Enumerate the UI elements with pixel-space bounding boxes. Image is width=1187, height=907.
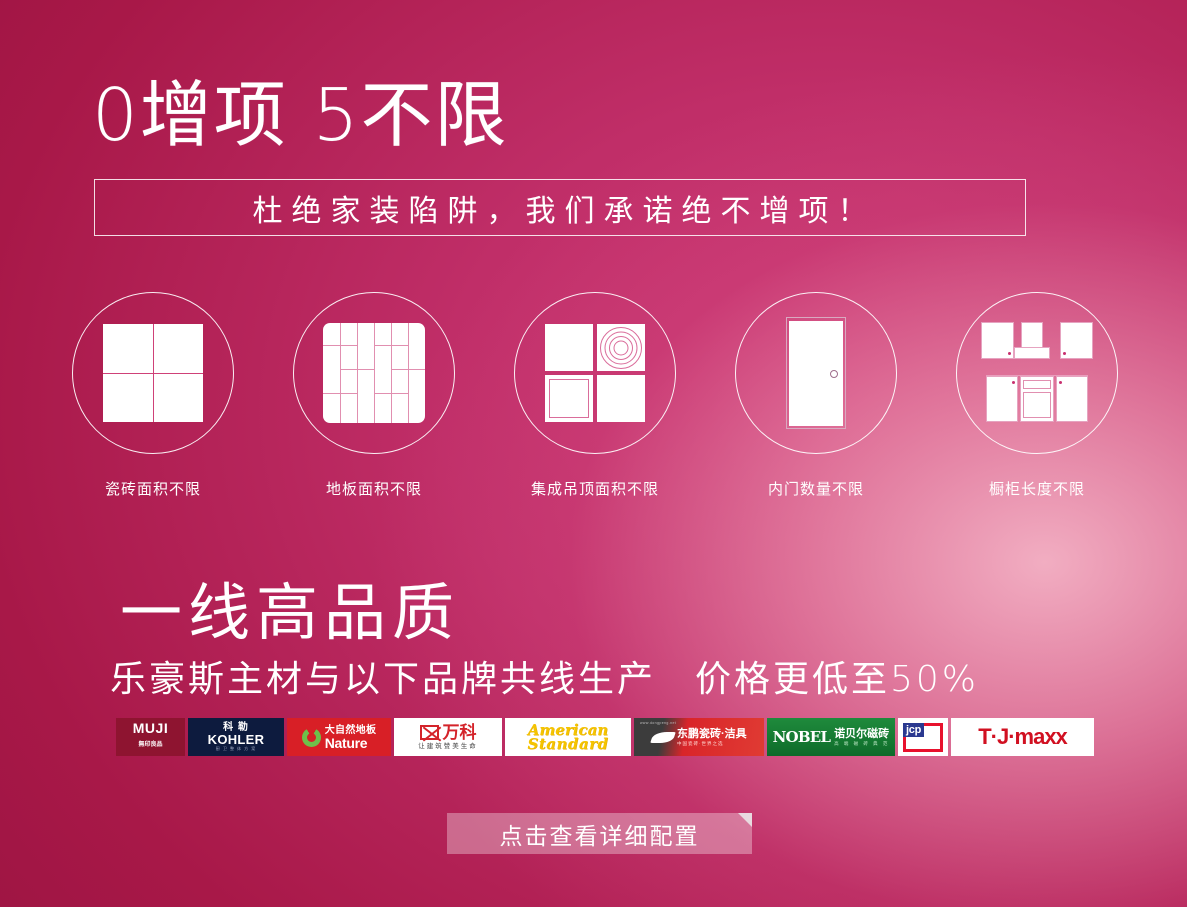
view-details-label: 点击查看详细配置 bbox=[500, 817, 700, 851]
jcp-frame-icon: jcp bbox=[903, 723, 943, 752]
brand-logo-tjmaxx: T·J·maxx bbox=[951, 718, 1094, 756]
brand-dongpeng-cn: 东鹏瓷砖·洁具 bbox=[677, 728, 747, 740]
door-icon-circle bbox=[735, 292, 897, 454]
brand-jcp-tag: jcp bbox=[903, 723, 924, 737]
brand-vanke-slogan: 让建筑赞美生命 bbox=[418, 743, 478, 751]
quality-subheading: 乐豪斯主材与以下品牌共线生产 价格更低至50% bbox=[110, 650, 979, 702]
promise-box: 杜绝家装陷阱，我们承诺绝不增项！ bbox=[94, 179, 1026, 236]
feature-item-tile: 瓷砖面积不限 bbox=[60, 292, 246, 499]
cabinet-icon-circle bbox=[956, 292, 1118, 454]
brand-logo-vanke: 万科 让建筑赞美生命 bbox=[394, 718, 502, 756]
floor-icon bbox=[323, 323, 425, 423]
brand-kohler-tagline: 厨 卫 整 体 方 案 bbox=[216, 746, 257, 752]
brand-nature-cn: 大自然地板 bbox=[325, 725, 377, 736]
nature-leaf-icon bbox=[302, 728, 321, 747]
brand-logo-dongpeng: www.dongpeng.net 东鹏瓷砖·洁具 中国瓷砖·世界之选 bbox=[634, 718, 764, 756]
brand-dongpeng-url: www.dongpeng.net bbox=[640, 721, 676, 725]
feature-label: 内门数量不限 bbox=[768, 478, 864, 499]
brand-nobel-cn: 诺贝尔磁砖 bbox=[834, 728, 889, 740]
feature-label: 地板面积不限 bbox=[326, 478, 422, 499]
brand-kohler-en: KOHLER bbox=[208, 733, 265, 746]
ceiling-icon bbox=[545, 324, 645, 422]
brand-logo-nobel: NOBEL 诺贝尔磁砖 高 端 磁 砖 典 范 bbox=[767, 718, 895, 756]
brand-logo-kohler: 科 勒 KOHLER 厨 卫 整 体 方 案 bbox=[188, 718, 284, 756]
brand-nobel-tagline: 高 端 磁 砖 典 范 bbox=[834, 740, 889, 747]
brand-logo-american-standard: American Standard bbox=[505, 718, 631, 756]
corner-fold-icon bbox=[738, 813, 752, 827]
feature-item-ceiling: 集成吊顶面积不限 bbox=[502, 292, 688, 499]
brand-dongpeng-tagline: 中国瓷砖·世界之选 bbox=[677, 740, 747, 747]
page-title: 0增项 5不限 bbox=[92, 72, 509, 158]
brand-amstd-line2: Standard bbox=[528, 737, 609, 751]
brand-logo-strip: MUJI 無印良品 科 勒 KOHLER 厨 卫 整 体 方 案 大自然地板 N… bbox=[116, 718, 1094, 756]
vanke-mark-icon bbox=[420, 725, 439, 740]
brand-muji-cn: 無印良品 bbox=[138, 742, 162, 748]
brand-nobel-en: NOBEL bbox=[773, 730, 830, 745]
view-details-button[interactable]: 点击查看详细配置 bbox=[447, 813, 752, 854]
brand-tjmaxx-text: T·J·maxx bbox=[978, 726, 1067, 748]
ceiling-icon-circle bbox=[514, 292, 676, 454]
feature-label: 集成吊顶面积不限 bbox=[531, 478, 659, 499]
feature-item-cabinet: 橱柜长度不限 bbox=[944, 292, 1130, 499]
brand-vanke-cn: 万科 bbox=[443, 724, 477, 742]
feature-item-door: 内门数量不限 bbox=[723, 292, 909, 499]
brand-logo-nature: 大自然地板 Nature bbox=[287, 718, 391, 756]
feature-item-floor: 地板面积不限 bbox=[281, 292, 467, 499]
tile-icon-circle bbox=[72, 292, 234, 454]
dongpeng-swoosh-icon bbox=[650, 732, 676, 743]
feature-list: 瓷砖面积不限 地板面积不限 bbox=[60, 292, 1130, 517]
brand-muji-en: MUJI bbox=[133, 720, 168, 736]
promo-poster: 0增项 5不限 杜绝家装陷阱，我们承诺绝不增项！ 瓷砖面积不限 bbox=[0, 0, 1187, 907]
quality-heading: 一线高品质 bbox=[120, 562, 460, 652]
cabinet-icon bbox=[981, 318, 1093, 428]
floor-icon-circle bbox=[293, 292, 455, 454]
feature-label: 橱柜长度不限 bbox=[989, 478, 1085, 499]
promise-text: 杜绝家装陷阱，我们承诺绝不增项！ bbox=[244, 186, 877, 230]
brand-logo-jcpenney: jcp bbox=[898, 718, 948, 756]
door-icon bbox=[786, 317, 846, 429]
feature-label: 瓷砖面积不限 bbox=[105, 478, 201, 499]
brand-nature-en: Nature bbox=[325, 736, 368, 750]
tile-icon bbox=[103, 324, 203, 422]
brand-logo-muji: MUJI 無印良品 bbox=[116, 718, 185, 756]
